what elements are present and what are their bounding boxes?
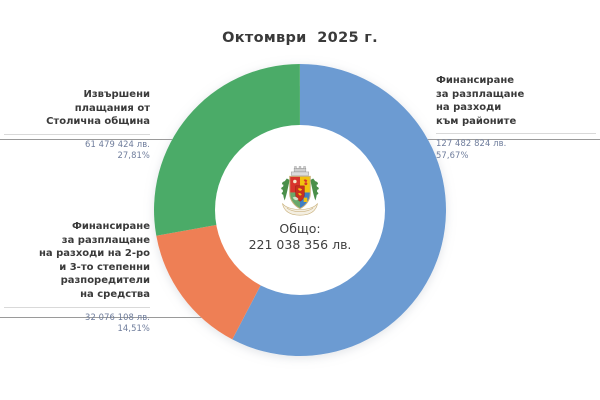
callout-percent-districts: 57,67% xyxy=(436,150,596,162)
callout-label-second-third-level: Финансиране за разплащане на разходи на … xyxy=(4,220,150,302)
callout-value-districts: 127 482 824 лв. xyxy=(436,138,596,150)
donut-hole xyxy=(215,125,385,295)
callout-second-third-level[interactable]: Финансиране за разплащане на разходи на … xyxy=(4,220,150,335)
chart-canvas: Октомври 2025 г. xyxy=(0,0,600,400)
callout-label-districts: Финансиране за разплащане на разходи към… xyxy=(436,74,596,128)
donut-svg xyxy=(151,61,449,359)
callout-value-second-third-level: 32 076 108 лв. xyxy=(4,312,150,324)
callout-percent-sofia-municipality-payments: 27,81% xyxy=(4,150,150,162)
donut-chart xyxy=(151,61,449,359)
page-title: Октомври 2025 г. xyxy=(0,30,600,46)
callout-label-sofia-municipality-payments: Извършени плащания от Столична община xyxy=(4,88,150,129)
callout-sofia-municipality-payments[interactable]: Извършени плащания от Столична община 61… xyxy=(4,88,150,162)
callout-divider xyxy=(4,134,150,135)
callout-divider xyxy=(4,307,150,308)
callout-value-sofia-municipality-payments: 61 479 424 лв. xyxy=(4,139,150,151)
callout-percent-second-third-level: 14,51% xyxy=(4,323,150,335)
callout-districts[interactable]: Финансиране за разплащане на разходи към… xyxy=(436,74,596,161)
callout-divider xyxy=(436,133,596,134)
